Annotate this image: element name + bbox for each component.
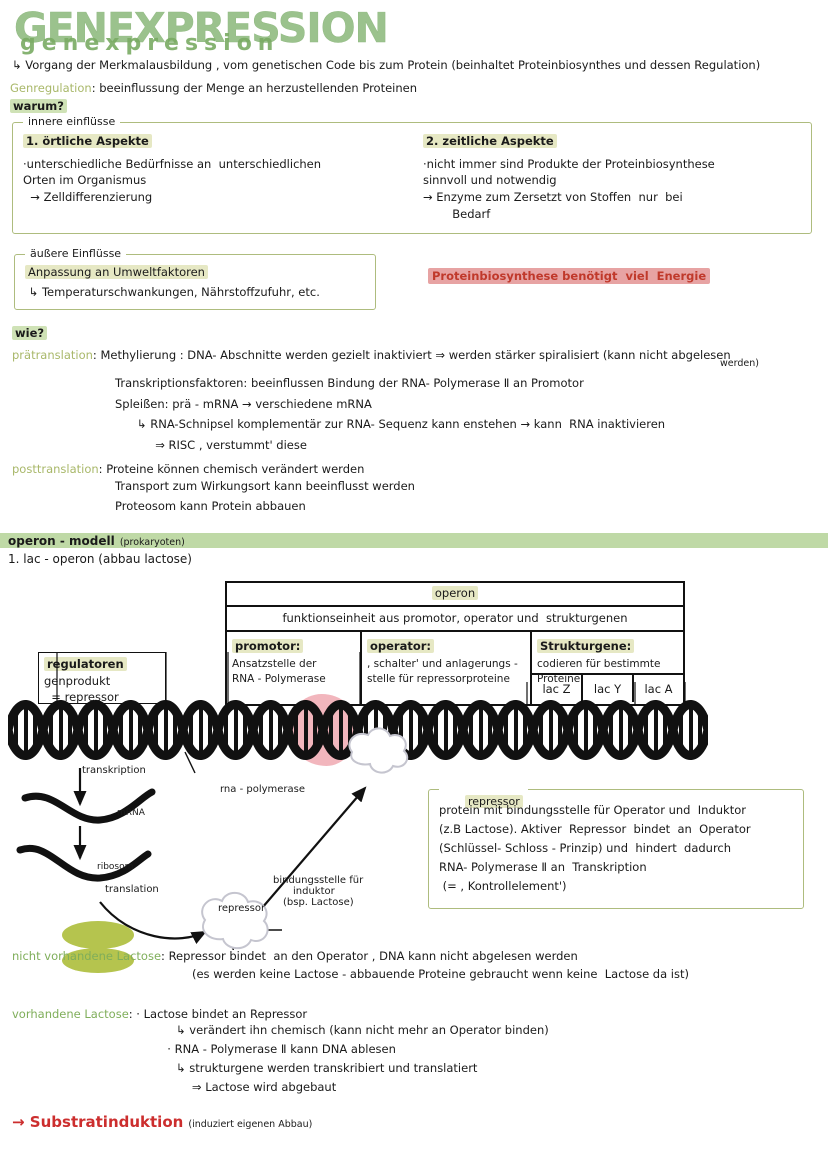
notes-page: GENEXPRESSION genexpression ↳ Vorgang de… xyxy=(0,0,828,1170)
label-mrna: mRNA xyxy=(117,808,145,818)
wie-line-2: ↳ RNA-Schnipsel komplementär zur RNA- Se… xyxy=(115,416,665,433)
substratinduktion-note: (induziert eigenen Abbau) xyxy=(188,1119,312,1130)
posttranslation-line-0: : Proteine können chemisch verändert wer… xyxy=(99,462,365,476)
inner-col-2: 2. zeitliche Aspekte ·nicht immer sind P… xyxy=(423,133,715,222)
operon-table-title-row: operon xyxy=(227,583,683,607)
posttranslation-row: posttranslation: Proteine können chemisc… xyxy=(12,458,364,478)
strukturgene-head: Strukturgene: xyxy=(537,639,634,653)
outer-influences-content: Anpassung an Umweltfaktoren ↳ Temperatur… xyxy=(25,264,320,300)
energy-note-text: Proteinbiosynthese benötigt viel Energie xyxy=(428,268,710,284)
lactose-line-0: : · Lactose bindet an Repressor xyxy=(129,1007,307,1021)
posttranslation-label: posttranslation xyxy=(12,462,99,476)
promotor-line-0: Ansatzstelle der xyxy=(232,657,355,672)
inner-col2-line-2: → Enzyme zum Zersetzt von Stoffen nur be… xyxy=(423,189,715,206)
no-lactose-label: nicht vorhandene Lactose xyxy=(12,949,161,963)
praetranslation-text: : Methylierung : DNA- Abschnitte werden … xyxy=(93,348,731,362)
inner-col2-line-3: Bedarf xyxy=(423,206,715,223)
warum-heading: warum? xyxy=(10,95,67,115)
operon-bar-sub: (prokaryoten) xyxy=(120,537,185,548)
label-ribosom: ribosom xyxy=(97,862,133,872)
operon-item-1: 1. lac - operon (abbau lactose) xyxy=(8,551,192,568)
label-bsp-lactose: (bsp. Lactose) xyxy=(283,897,354,908)
outer-influences-box: äußere Einflüsse Anpassung an Umweltfakt… xyxy=(14,254,376,310)
wie-line-3: ⇒ RISC , verstummt' diese xyxy=(115,437,665,454)
lactose-line-1: ↳ verändert ihn chemisch (kann nicht meh… xyxy=(165,1022,549,1039)
lactose-label: vorhandene Lactose xyxy=(12,1007,129,1021)
inner-influences-box: innere einflüsse 1. örtliche Aspekte ·un… xyxy=(12,122,812,234)
no-lactose-line-1: : Repressor bindet an den Operator , DNA… xyxy=(161,949,578,963)
label-transkription: transkription xyxy=(82,765,146,776)
intro-line-1: ↳ Vorgang der Merkmalausbildung , vom ge… xyxy=(12,57,822,74)
praetranslation-row: prätranslation: Methylierung : DNA- Absc… xyxy=(12,344,828,364)
lactose-line-4: ⇒ Lactose wird abgebaut xyxy=(170,1079,336,1096)
operon-bar-title: operon - modell xyxy=(8,534,115,548)
genregulation-label: Genregulation xyxy=(10,81,92,95)
praetranslation-label: prätranslation xyxy=(12,348,93,362)
label-bindungsstelle: bindungsstelle für xyxy=(273,875,363,886)
final-conclusion: → Substratinduktion (induziert eigenen A… xyxy=(12,1112,312,1134)
label-induktor: induktor xyxy=(293,886,335,897)
praetranslation-text-2: werden) xyxy=(720,357,759,371)
repressor-line-2: (Schlüssel- Schloss - Prinzip) und hinde… xyxy=(439,839,751,858)
inner-col-1: 1. örtliche Aspekte ·unterschiedliche Be… xyxy=(23,133,321,206)
operon-subtitle-text: funktionseinheit aus promotor, operator … xyxy=(282,611,627,625)
operator-head: operator: xyxy=(367,639,434,653)
repressor-line-1: (z.B Lactose). Aktiver Repressor bindet … xyxy=(439,820,751,839)
repressor-line-0: protein mit bindungsstelle für Operator … xyxy=(439,801,751,820)
dna-double-helix xyxy=(8,694,708,766)
wie-line-0: Transkriptionsfaktoren: beeinflussen Bin… xyxy=(115,375,665,392)
warum-label: warum? xyxy=(10,99,67,113)
energy-note: Proteinbiosynthese benötigt viel Energie xyxy=(428,265,710,285)
outer-line-1: ↳ Temperaturschwankungen, Nährstoffzufuh… xyxy=(25,284,320,301)
outer-line-0: Anpassung an Umweltfaktoren xyxy=(25,265,208,279)
outer-influences-legend: äußere Einflüsse xyxy=(25,247,126,260)
operon-title-text: operon xyxy=(432,586,478,600)
regulator-line-0: genprodukt xyxy=(44,673,160,690)
no-lactose-line-2: (es werden keine Lactose - abbauende Pro… xyxy=(192,966,689,983)
operon-table-subtitle: funktionseinheit aus promotor, operator … xyxy=(227,607,683,631)
inner-col2-line-1: sinnvoll und notwendig xyxy=(423,172,715,189)
wie-heading: wie? xyxy=(12,322,47,342)
inner-col2-heading: 2. zeitliche Aspekte xyxy=(423,134,557,148)
wie-line-1: Spleißen: prä - mRNA → verschiedene mRNA xyxy=(115,396,665,413)
repressor-description-box: repressor protein mit bindungsstelle für… xyxy=(428,789,804,909)
strukturgene-line-0: codieren für bestimmte xyxy=(537,657,678,672)
repressor-box-content: protein mit bindungsstelle für Operator … xyxy=(439,801,751,896)
wie-body-lines: Transkriptionsfaktoren: beeinflussen Bin… xyxy=(115,375,665,454)
genregulation-line: Genregulation: beeinflussung der Menge a… xyxy=(10,77,417,97)
repressor-line-4: (= , Kontrollelement') xyxy=(439,877,751,896)
inner-col1-line-0: ·unterschiedliche Bedürfnisse an untersc… xyxy=(23,156,321,173)
inner-col1-line-2: → Zelldifferenzierung xyxy=(23,189,321,206)
regulator-head: regulatoren xyxy=(44,657,127,671)
label-rna-polymerase: rna - polymerase xyxy=(220,784,305,795)
genregulation-text: : beeinflussung der Menge an herzustelle… xyxy=(92,81,417,95)
lactose-line-2: · RNA - Polymerase Ⅱ kann DNA ablesen xyxy=(160,1041,396,1058)
posttranslation-line-2: Proteosom kann Protein abbauen xyxy=(115,498,306,515)
lactose-line-3: ↳ strukturgene werden transkribiert und … xyxy=(165,1060,477,1077)
page-title: GENEXPRESSION genexpression xyxy=(14,4,434,60)
posttranslation-line-1: Transport zum Wirkungsort kann beeinflus… xyxy=(115,478,415,495)
label-repressor-free: repressor xyxy=(218,903,265,914)
label-translation: translation xyxy=(105,884,159,895)
operator-line-0: , schalter' und anlagerungs - xyxy=(367,657,525,672)
lactose-row: vorhandene Lactose: · Lactose bindet an … xyxy=(12,1003,307,1023)
strukturgene-desc: Strukturgene: codieren für bestimmte Pro… xyxy=(532,632,683,675)
operon-table: operon funktionseinheit aus promotor, op… xyxy=(225,581,685,706)
operon-table-title: operon xyxy=(227,583,683,605)
no-lactose-row: nicht vorhandene Lactose: Repressor bind… xyxy=(12,945,578,965)
operator-line-1: stelle für repressorproteine xyxy=(367,672,525,687)
inner-col1-line-1: Orten im Organismus xyxy=(23,172,321,189)
inner-col2-line-0: ·nicht immer sind Produkte der Proteinbi… xyxy=(423,156,715,173)
inner-col1-heading: 1. örtliche Aspekte xyxy=(23,134,152,148)
wie-label: wie? xyxy=(12,326,47,340)
page-title-shadow: genexpression xyxy=(20,31,279,56)
promotor-head: promotor: xyxy=(232,639,303,653)
repressor-line-3: RNA- Polymerase Ⅱ an Transkription xyxy=(439,858,751,877)
inner-influences-legend: innere einflüsse xyxy=(23,115,120,128)
operon-table-subtitle-row: funktionseinheit aus promotor, operator … xyxy=(227,607,683,633)
substratinduktion-label: → Substratinduktion xyxy=(12,1113,183,1131)
operon-section-heading: operon - modell (prokaryoten) xyxy=(8,530,185,550)
promotor-line-1: RNA - Polymerase xyxy=(232,672,355,687)
